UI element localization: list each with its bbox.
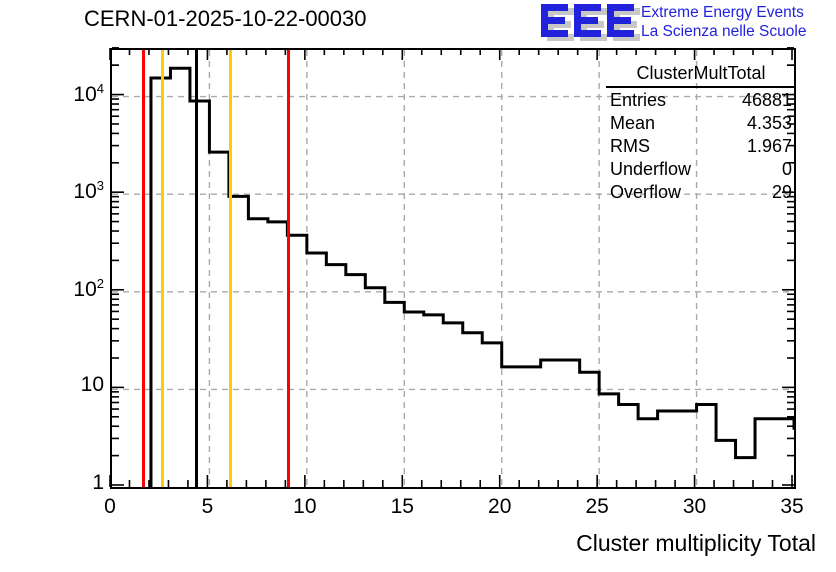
stats-row-value: 29 <box>772 181 796 204</box>
stats-row: Underflow0 <box>606 158 796 181</box>
eee-logo: Extreme Energy Events La Scienza nelle S… <box>541 2 835 42</box>
y-tick-label: 10 <box>10 373 104 397</box>
stats-row-value: 0 <box>782 158 796 181</box>
stats-rows: Entries46881Mean4.353RMS1.967Underflow0O… <box>606 89 796 204</box>
stats-row: Mean4.353 <box>606 112 796 135</box>
stats-row: Overflow29 <box>606 181 796 204</box>
histogram-canvas: CERN-01-2025-10-22-00030 Extreme Energy … <box>0 0 836 572</box>
stats-row-value: 46881 <box>742 89 796 112</box>
logo-line-2: La Scienza nelle Scuole <box>641 22 806 41</box>
stats-row-key: Underflow <box>606 158 691 181</box>
y-tick-label: 102 <box>10 276 104 302</box>
x-tick-label: 0 <box>80 495 140 519</box>
marker-line-high-yellow-cut <box>229 50 232 487</box>
x-tick-label: 35 <box>762 495 822 519</box>
marker-line-low-yellow-cut <box>161 50 164 487</box>
stats-row-value: 1.967 <box>747 135 796 158</box>
eee-mark-icon <box>541 2 636 40</box>
page-title: CERN-01-2025-10-22-00030 <box>84 6 367 32</box>
x-tick-label: 25 <box>567 495 627 519</box>
x-tick-label: 30 <box>665 495 725 519</box>
stats-row-value: 4.353 <box>747 112 796 135</box>
x-axis-title: Cluster multiplicity Total <box>576 530 816 557</box>
stats-row: Entries46881 <box>606 89 796 112</box>
stats-row-key: Overflow <box>606 181 681 204</box>
y-tick-label: 1 <box>10 471 104 495</box>
x-tick-label: 15 <box>372 495 432 519</box>
marker-line-mean-line <box>195 50 198 487</box>
y-tick-label: 103 <box>10 178 104 204</box>
logo-text-block: Extreme Energy Events La Scienza nelle S… <box>641 3 806 41</box>
stats-title: ClusterMultTotal <box>606 62 796 88</box>
x-tick-label: 10 <box>275 495 335 519</box>
stats-box: ClusterMultTotal Entries46881Mean4.353RM… <box>606 62 796 204</box>
marker-line-high-red-cut <box>287 50 290 487</box>
y-tick-label: 104 <box>10 81 104 107</box>
logo-line-1: Extreme Energy Events <box>641 3 806 22</box>
x-tick-label: 20 <box>470 495 530 519</box>
stats-row-key: Entries <box>606 89 666 112</box>
x-tick-label: 5 <box>177 495 237 519</box>
stats-row-key: RMS <box>606 135 650 158</box>
stats-row-key: Mean <box>606 112 655 135</box>
marker-line-low-red-cut <box>142 50 145 487</box>
stats-row: RMS1.967 <box>606 135 796 158</box>
